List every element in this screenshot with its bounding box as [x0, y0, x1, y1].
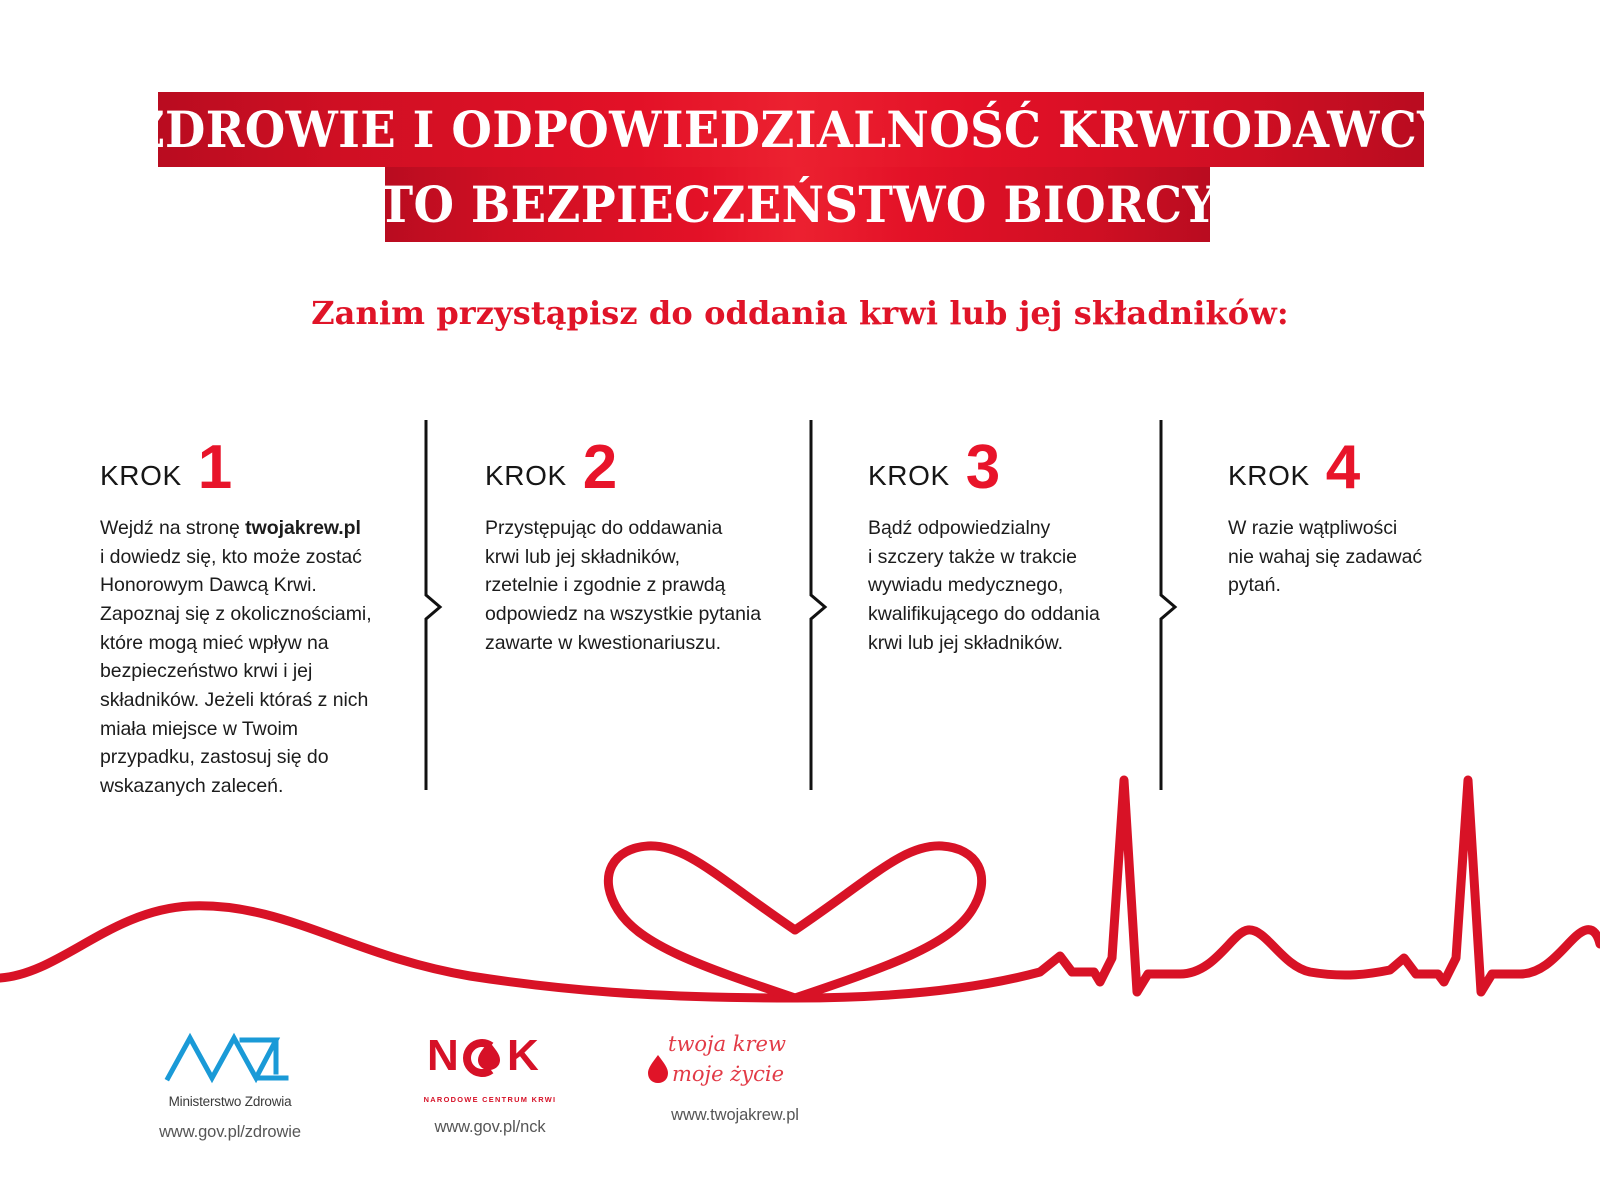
subtitle: Zanim przystąpisz do oddania krwi lub je… [0, 294, 1600, 332]
ecg-heart-left-lobe [608, 846, 795, 998]
step-number-2: 2 [583, 443, 617, 494]
step-divider-arrow-2 [805, 420, 835, 790]
step-card-1: KROK 1 Wejdź na stronę twojakrew.pl i do… [100, 418, 430, 801]
tkmz-script-line1: twoja krew [668, 1032, 786, 1056]
ecg-heart-right-lobe [795, 846, 982, 998]
step-label-4: KROK [1228, 462, 1310, 494]
nck-url[interactable]: www.gov.pl/nck [355, 1118, 625, 1137]
steps-container: KROK 1 Wejdź na stronę twojakrew.pl i do… [0, 418, 1600, 818]
banner-row-2: TO BEZPIECZEŃSTWO BIORCY [385, 167, 1210, 242]
mz-zigzag-icon [164, 1028, 296, 1084]
tkmz-blood-drop-icon [648, 1055, 668, 1083]
step-divider-arrow-3 [1155, 420, 1185, 790]
step-body-1-prefix: Wejdź na stronę [100, 517, 245, 539]
infographic-poster: ZDROWIE I ODPOWIEDZIALNOŚĆ KRWIODAWCY TO… [0, 0, 1600, 1200]
logo-twoja-krew-moje-zycie: twoja krew moje życie www.twojakrew.pl [590, 1020, 880, 1125]
title-banner: ZDROWIE I ODPOWIEDZIALNOŚĆ KRWIODAWCY TO… [0, 92, 1600, 242]
step-header-3: KROK 3 [868, 418, 1198, 494]
footer: Ministerstwo Zdrowia www.gov.pl/zdrowie … [0, 1020, 1600, 1200]
ecg-right-wave [795, 780, 1600, 998]
step-label-1: KROK [100, 462, 182, 494]
svg-text:K: K [507, 1031, 539, 1080]
nck-caption: NARODOWE CENTRUM KRWI [355, 1095, 625, 1104]
mz-caption: Ministerstwo Zdrowia [95, 1094, 365, 1109]
nck-wordmark-icon: N K [425, 1030, 555, 1082]
twoja-krew-script-icon: twoja krew moje życie [640, 1025, 830, 1087]
nck-logo-art: N K [355, 1020, 625, 1092]
step-number-3: 3 [966, 443, 1000, 494]
step-divider-arrow-1 [420, 420, 450, 790]
step-card-4: KROK 4 W razie wątpliwości nie wahaj się… [1228, 418, 1558, 600]
step-body-1-bold: twojakrew.pl [245, 517, 361, 539]
step-body-2: Przystępując do oddawania krwi lub jej s… [485, 514, 815, 657]
step-label-2: KROK [485, 462, 567, 494]
step-body-4: W razie wątpliwości nie wahaj się zadawa… [1228, 514, 1558, 600]
step-header-1: KROK 1 [100, 418, 430, 494]
tkmz-script-line2: moje życie [672, 1062, 784, 1086]
heartbeat-ecg-graphic [0, 760, 1600, 1030]
step-number-1: 1 [198, 443, 232, 494]
banner-title-line2: TO BEZPIECZEŃSTWO BIORCY [385, 180, 1210, 230]
step-card-3: KROK 3 Bądź odpowiedzialny i szczery tak… [868, 418, 1198, 657]
mz-url[interactable]: www.gov.pl/zdrowie [95, 1123, 365, 1142]
logo-ministerstwo-zdrowia: Ministerstwo Zdrowia www.gov.pl/zdrowie [95, 1020, 365, 1142]
step-body-1: Wejdź na stronę twojakrew.pl i dowiedz s… [100, 514, 430, 801]
logo-narodowe-centrum-krwi: N K NARODOWE CENTRUM KRWI www.gov.pl/nck [355, 1020, 625, 1137]
tkmz-logo-art: twoja krew moje życie [590, 1020, 880, 1092]
step-header-2: KROK 2 [485, 418, 815, 494]
step-number-4: 4 [1326, 443, 1360, 494]
mz-logo-art [95, 1020, 365, 1092]
banner-title-line1: ZDROWIE I ODPOWIEDZIALNOŚĆ KRWIODAWCY [158, 105, 1424, 155]
step-card-2: KROK 2 Przystępując do oddawania krwi lu… [485, 418, 815, 657]
step-body-3: Bądź odpowiedzialny i szczery także w tr… [868, 514, 1198, 657]
step-header-4: KROK 4 [1228, 418, 1558, 494]
tkmz-url[interactable]: www.twojakrew.pl [590, 1106, 880, 1125]
banner-row-1: ZDROWIE I ODPOWIEDZIALNOŚĆ KRWIODAWCY [158, 92, 1424, 167]
svg-text:N: N [427, 1031, 458, 1080]
step-label-3: KROK [868, 462, 950, 494]
